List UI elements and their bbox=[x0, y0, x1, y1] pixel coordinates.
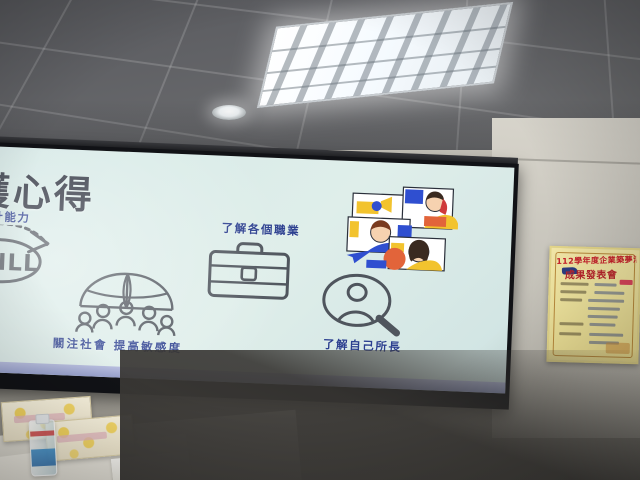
skill-badge-icon: SKILL bbox=[0, 223, 64, 290]
video-call-illustration bbox=[344, 183, 459, 274]
globe-people-icon bbox=[71, 266, 182, 336]
wall-poster: 112學年度企業築夢活動 成果發表會 bbox=[546, 246, 640, 365]
water-bottle bbox=[29, 419, 58, 476]
label-understand-professions: 了解各個職業 bbox=[221, 220, 300, 239]
magnifier-person-icon bbox=[317, 270, 406, 337]
svg-text:SKILL: SKILL bbox=[0, 248, 39, 277]
briefcase-icon bbox=[205, 237, 293, 302]
label-improve-statistics: 增進統計能力 bbox=[0, 207, 31, 226]
classroom-photo: 收穫心得 增進統計能力 SKILL bbox=[0, 0, 640, 480]
foreground-shadow bbox=[120, 350, 640, 480]
